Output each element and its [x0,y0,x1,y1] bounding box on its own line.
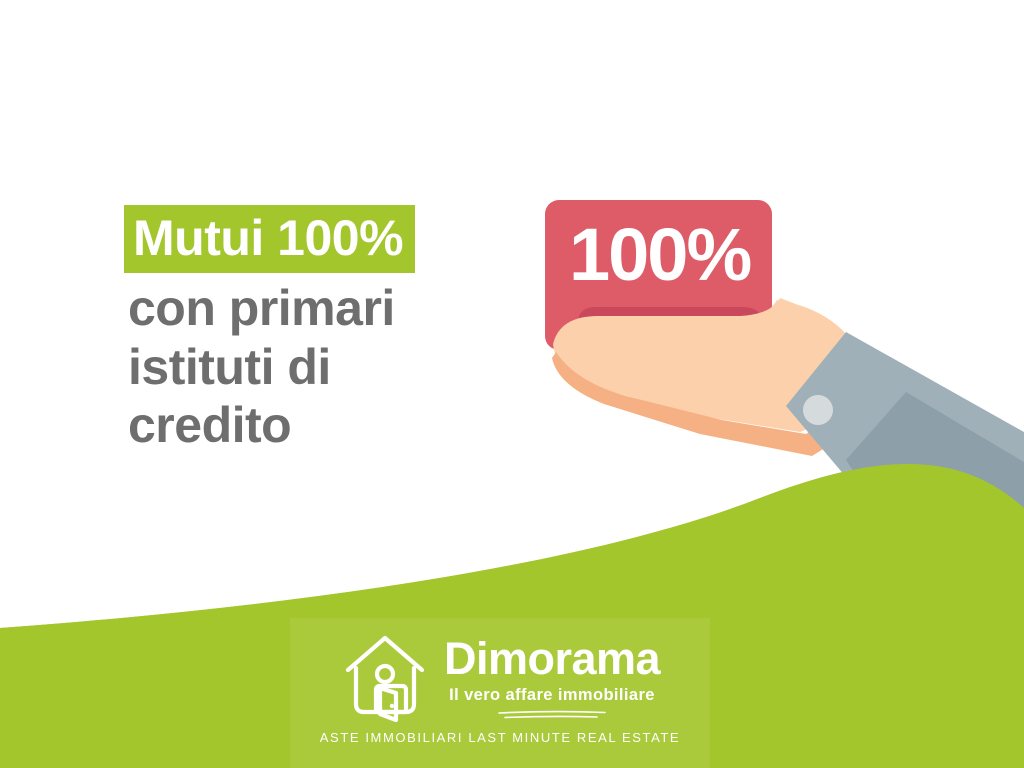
promo-banner: Mutui 100% con primari istituti di credi… [0,0,1024,768]
dimorama-logo[interactable]: Dimorama Il vero affare immobiliare ASTE… [290,618,710,768]
double-underline-flourish-icon [497,710,607,720]
house-with-open-door-icon [340,630,430,722]
logo-name: Dimorama [444,636,660,681]
headline-line-1: con primari [124,279,544,338]
headline-line-2: istituti di [124,338,544,397]
headline-line-3: credito [124,396,544,455]
headline-highlight: Mutui 100% [124,205,415,273]
logo-wordmark-group: Dimorama Il vero affare immobiliare [444,632,660,721]
logo-tagline: Il vero affare immobiliare [449,687,655,704]
headline-subtext: con primari istituti di credito [124,279,544,455]
percent-badge-card: 100% [545,200,772,350]
headline-block: Mutui 100% con primari istituti di credi… [124,205,544,455]
percent-badge-label: 100% [569,218,750,292]
logo-primary-row: Dimorama Il vero affare immobiliare [340,630,660,722]
logo-services-line: ASTE IMMOBILIARI LAST MINUTE REAL ESTATE [320,731,680,744]
headline-highlight-wrap: Mutui 100% [124,205,544,273]
door-knob-icon [390,704,394,708]
